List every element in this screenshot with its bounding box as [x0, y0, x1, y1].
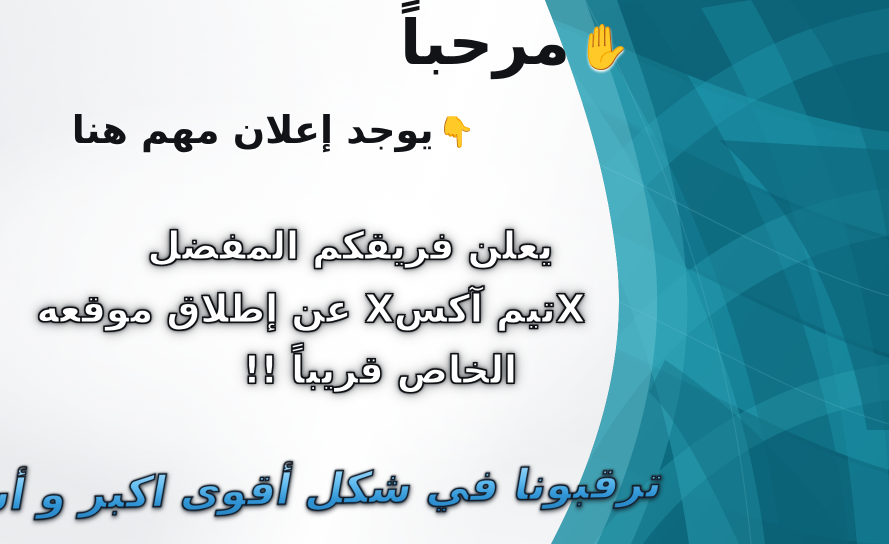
announcement-banner: ✋مرحباً 👇يوجد إعلان مهم هنا يعلن فريقكم … [0, 0, 889, 544]
subheading: 👇يوجد إعلان مهم هنا [72, 108, 475, 152]
tagline-container: ترقبونا في شكل أقوى اكبر و أسرع ! [0, 458, 667, 523]
announcement-line-2: Xتيم آكسX عن إطلاق موقعه [37, 287, 586, 331]
subheading-text: يوجد إعلان مهم هنا [72, 108, 434, 152]
pointing-down-icon: 👇 [438, 115, 475, 150]
raised-hand-icon: ✋ [576, 22, 631, 73]
banner-content: ✋مرحباً 👇يوجد إعلان مهم هنا يعلن فريقكم … [0, 0, 889, 544]
greeting-heading: ✋مرحباً [400, 6, 631, 79]
announcement-line-3: الخاص قريباً !! [243, 348, 517, 392]
greeting-text: مرحباً [400, 6, 570, 79]
announcement-line-1: يعلن فريقكم المفضل [148, 224, 553, 268]
tagline-text: ترقبونا في شكل أقوى اكبر و أسرع ! [0, 458, 667, 523]
